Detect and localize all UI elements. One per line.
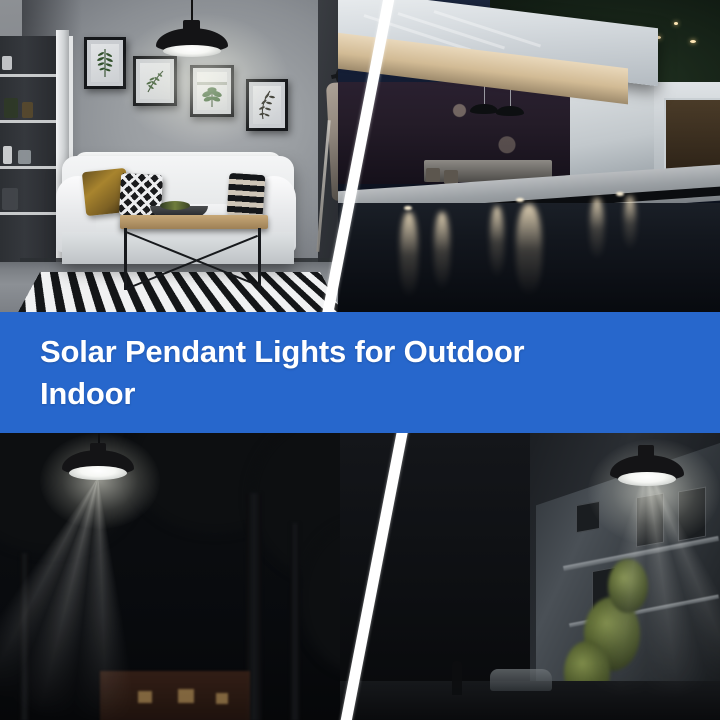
stool: [426, 168, 440, 182]
headline-line-1: Solar Pendant Lights for Outdoor: [40, 331, 680, 372]
house-window: [138, 691, 152, 703]
headline-line-2: Indoor: [40, 373, 680, 414]
climbing-plants: [608, 559, 648, 613]
headline-banner: Solar Pendant Lights for Outdoor Indoor: [0, 312, 720, 433]
table-leg-right: [258, 228, 261, 290]
water-reflection: [590, 198, 604, 260]
pedestrian-silhouette: [452, 661, 462, 695]
patio-pendant-lamp-2: [496, 106, 524, 116]
fern-leaf-icon: [257, 89, 277, 121]
facade-window: [576, 501, 600, 533]
patio-pendant-lamp-1: [470, 104, 498, 114]
house-window: [178, 689, 194, 703]
distant-house-light: [674, 22, 678, 25]
water-reflection: [624, 196, 636, 250]
house-window: [216, 693, 228, 704]
stool: [444, 170, 458, 184]
framed-print-4: [246, 79, 288, 131]
facade-window: [678, 487, 706, 542]
photo-panel-pool-patio: [338, 0, 720, 315]
plant-icon: [199, 82, 225, 108]
facade-window: [636, 493, 664, 548]
framed-print-1: [84, 37, 126, 89]
fern-leaf-icon: [97, 48, 113, 78]
coffee-table-top: [120, 215, 268, 229]
deck-uplight: [404, 206, 412, 210]
pendant-cord: [191, 0, 193, 22]
photo-panel-night-garden: [0, 433, 380, 720]
tree-canopy: [0, 433, 140, 553]
table-leg-left: [124, 228, 127, 290]
cushion-striped: [227, 173, 266, 217]
tree-trunk: [290, 523, 300, 720]
parked-car: [490, 669, 552, 691]
water-reflection: [490, 206, 504, 278]
geometric-rug: [17, 272, 343, 315]
framed-print-3: [190, 65, 234, 117]
water-reflection: [400, 212, 418, 298]
tree-trunk: [20, 553, 29, 720]
distant-house-light: [690, 40, 696, 43]
water-reflection: [434, 212, 450, 290]
water-reflection: [516, 204, 542, 296]
deck-uplight: [616, 192, 624, 196]
fern-leaf-icon: [144, 68, 166, 94]
deck-uplight: [516, 198, 524, 202]
product-banner-image: Solar Pendant Lights for Outdoor Indoor: [0, 0, 720, 720]
framed-print-2: [133, 56, 177, 106]
garden-pendant-lamp-glow: [69, 466, 127, 480]
pendant-lamp-glow: [163, 45, 221, 57]
alley-pendant-lamp-glow: [618, 472, 676, 486]
